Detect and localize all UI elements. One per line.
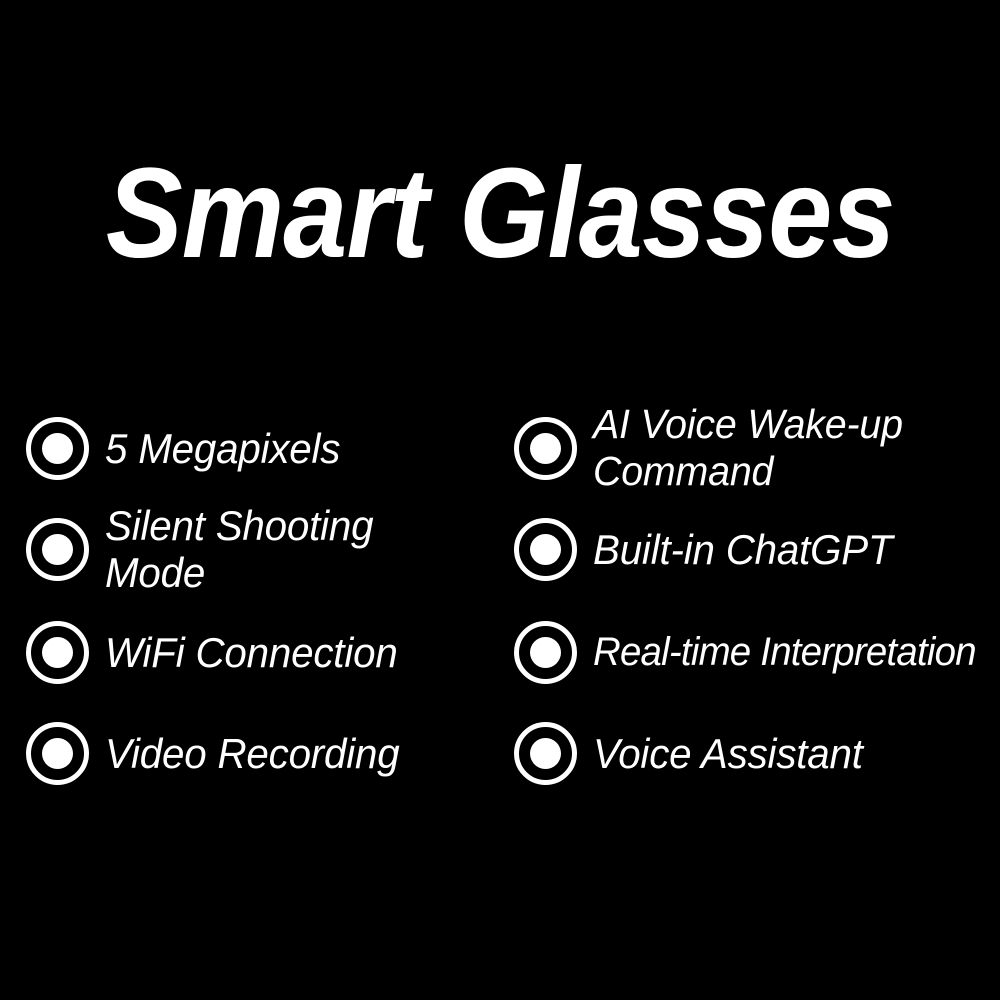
filled-ring-bullet-icon (26, 722, 89, 785)
filled-ring-bullet-icon (514, 621, 577, 684)
filled-ring-bullet-icon (26, 621, 89, 684)
feature-item-video-recording: Video Recording (26, 718, 412, 788)
feature-column-left: 5 Megapixels Silent Shooting Mode WiFi C… (26, 398, 496, 798)
feature-item-label: WiFi Connection (105, 629, 398, 676)
smart-glasses-feature-poster: Smart Glasses 5 Megapixels Silent Shooti… (0, 0, 1000, 1000)
feature-item-voice-assistant: Voice Assistant (514, 718, 874, 788)
feature-item-built-in-chatgpt: Built-in ChatGPT (514, 514, 905, 584)
feature-list: 5 Megapixels Silent Shooting Mode WiFi C… (0, 398, 1000, 798)
feature-item-ai-voice-wake-up-command: AI Voice Wake-up Command (514, 413, 916, 483)
feature-item-label: Voice Assistant (593, 730, 863, 777)
feature-item-label: 5 Megapixels (105, 425, 340, 472)
feature-item-silent-shooting-mode: Silent Shooting Mode (26, 514, 496, 584)
feature-item-label: Video Recording (105, 730, 400, 777)
filled-ring-bullet-icon (26, 518, 89, 581)
feature-item-wifi-connection: WiFi Connection (26, 617, 410, 687)
feature-item-label: Real-time Interpretation (593, 629, 976, 676)
feature-item-real-time-interpretation: Real-time Interpretation (514, 617, 992, 687)
feature-item-label: Silent Shooting Mode (105, 502, 480, 596)
filled-ring-bullet-icon (514, 417, 577, 480)
feature-item-label: Built-in ChatGPT (593, 526, 892, 573)
filled-ring-bullet-icon (514, 518, 577, 581)
feature-item-5-megapixels: 5 Megapixels (26, 413, 350, 483)
filled-ring-bullet-icon (514, 722, 577, 785)
feature-item-label: AI Voice Wake-up Command (593, 401, 903, 495)
filled-ring-bullet-icon (26, 417, 89, 480)
feature-column-right: AI Voice Wake-up Command Built-in ChatGP… (514, 398, 1000, 798)
page-title: Smart Glasses (106, 150, 895, 278)
page-title-container: Smart Glasses (0, 150, 1000, 278)
